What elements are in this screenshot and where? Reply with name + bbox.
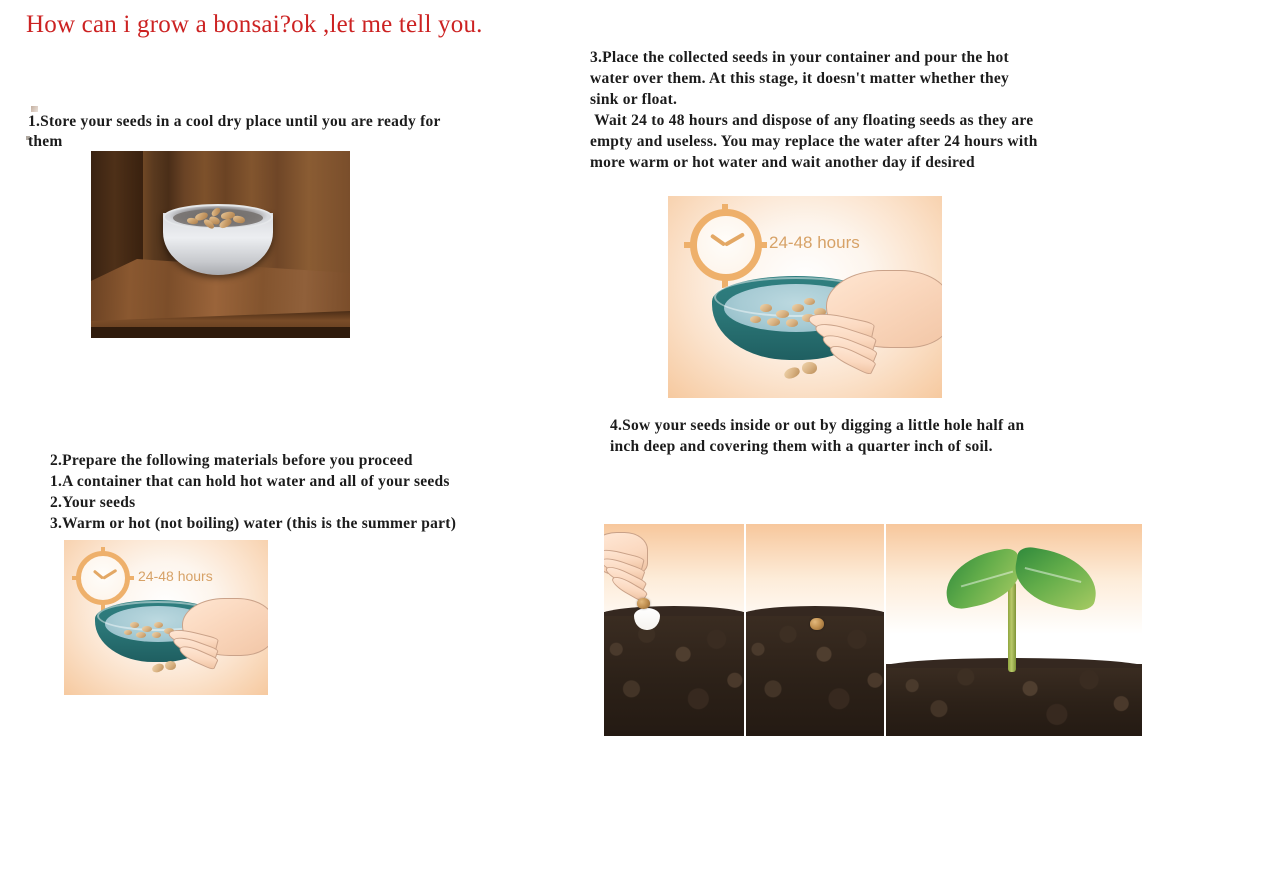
seed — [152, 632, 161, 638]
seed — [637, 598, 650, 609]
leaf-right — [1010, 545, 1102, 613]
clock-tick — [684, 242, 696, 248]
step-4-text: 4.Sow your seeds inside or out by diggin… — [610, 415, 1033, 477]
falling-seed — [783, 365, 802, 380]
soil — [746, 612, 884, 736]
image-seed-resting-in-soil — [746, 524, 884, 736]
seed — [760, 304, 772, 312]
seed — [810, 618, 824, 630]
soil — [886, 664, 1142, 736]
image-seedling-sprouting-from-soil — [886, 524, 1142, 736]
document-page: How can i grow a bonsai?ok ,let me tell … — [0, 0, 1274, 880]
stem — [1008, 582, 1016, 672]
seed — [142, 626, 152, 632]
soil-surface — [746, 606, 884, 616]
soil-surface — [604, 606, 744, 616]
seed — [136, 632, 146, 638]
step-1-text: 1.Store your seeds in a cool dry place u… — [28, 112, 478, 152]
image-bowl-of-seeds-on-wooden-shelf — [91, 151, 350, 338]
clock-label: 24-48 hours — [138, 568, 213, 584]
soil — [604, 612, 744, 736]
seed — [804, 298, 815, 305]
image-hand-dropping-seed-into-hole — [604, 524, 744, 736]
seed — [750, 316, 761, 323]
clock-tick — [72, 576, 81, 580]
step-2-text: 2.Prepare the following materials before… — [50, 450, 520, 534]
falling-seed — [165, 661, 176, 670]
clock-tick — [755, 242, 767, 248]
seed — [776, 310, 789, 318]
seed — [786, 319, 798, 327]
seed — [124, 630, 132, 635]
falling-seed — [151, 662, 165, 674]
clock-label: 24-48 hours — [769, 233, 860, 253]
page-title: How can i grow a bonsai?ok ,let me tell … — [26, 10, 666, 40]
image-soaking-seeds-illustration-small: 24-48 hours — [64, 540, 268, 695]
seed — [130, 622, 139, 628]
seed — [154, 622, 163, 628]
step-3-text: 3.Place the collected seeds in your cont… — [590, 47, 1038, 173]
shelf-shadow — [91, 327, 350, 338]
clock-tick — [125, 576, 134, 580]
seed — [767, 318, 780, 326]
clock-tick — [722, 204, 728, 216]
clock-tick — [101, 547, 105, 556]
image-soaking-seeds-illustration-large: 24-48 hours — [668, 196, 942, 398]
falling-seed — [802, 362, 817, 374]
seed — [792, 304, 804, 312]
